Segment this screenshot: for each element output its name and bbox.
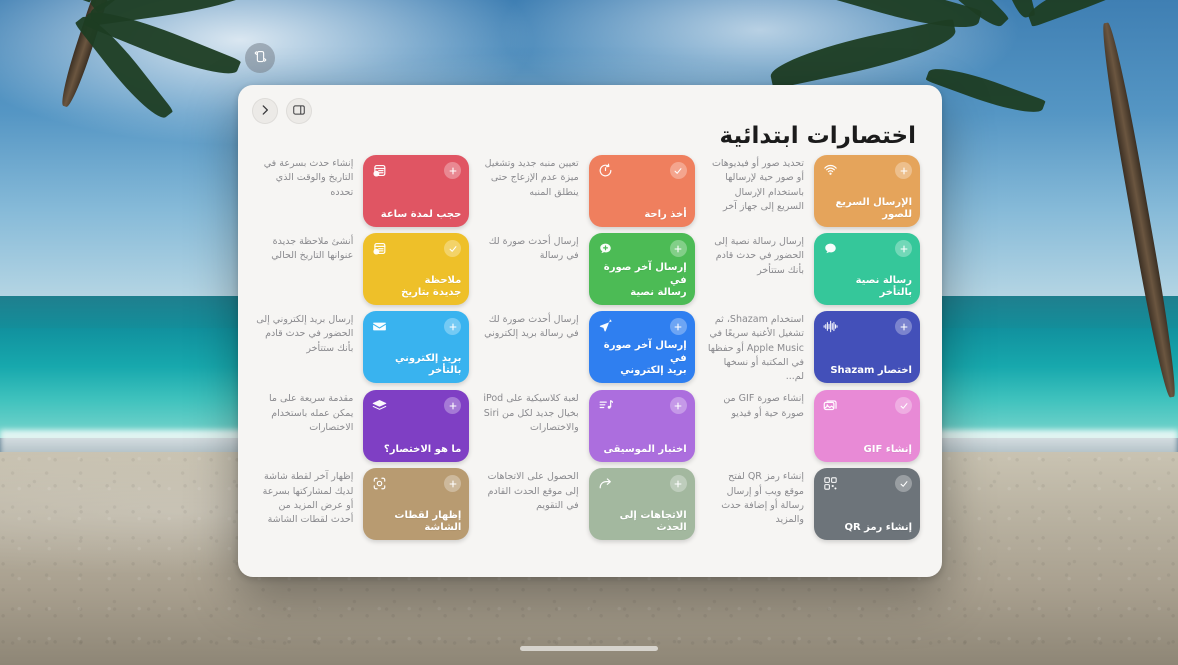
add-shortcut-button[interactable] xyxy=(895,318,912,335)
added-check-icon xyxy=(895,397,912,414)
card-top-row xyxy=(822,397,912,414)
card-top-row xyxy=(822,475,912,492)
shortcut-entry: الإرسال السريع للصورتحديد صور أو فيديوها… xyxy=(707,155,920,227)
airdrop-icon xyxy=(822,162,839,179)
shortcut-card-label: اختبار الموسيقى xyxy=(597,444,687,456)
shortcut-entry: إظهار لقطات الشاشةإظهار آخر لقطة شاشة لد… xyxy=(256,468,469,540)
card-top-row xyxy=(597,397,687,414)
shortcut-entry: إنشاء GIFإنشاء صورة GIF من صورة حية أو ف… xyxy=(707,390,920,462)
shortcut-card[interactable]: إنشاء GIF xyxy=(814,390,920,462)
card-top-row xyxy=(822,318,912,335)
shortcut-entry: إنشاء رمز QRإنشاء رمز QR لفتح موقع ويب أ… xyxy=(707,468,920,540)
shortcut-entry: الاتجاهات إلى الحدثالحصول على الاتجاهات … xyxy=(481,468,694,540)
shortcut-description: إنشاء حدث بسرعة في التاريخ والوقت الذي ت… xyxy=(256,155,353,200)
shortcut-card-label: بريد إلكتروني بالتأخر xyxy=(371,353,461,377)
shortcut-card-label: أخذ راحة xyxy=(597,209,687,221)
waveform-icon xyxy=(822,318,839,335)
add-shortcut-button[interactable] xyxy=(670,397,687,414)
shortcuts-gallery-panel: اختصارات ابتدائية الإرسال السريع للصورتح… xyxy=(238,85,942,577)
shortcut-description: الحصول على الاتجاهات إلى موقع الحدث القا… xyxy=(481,468,578,513)
shortcut-card-label: إنشاء GIF xyxy=(822,444,912,456)
shortcut-entry: رسالة نصية بالتأخرإرسال رسالة نصية إلى ا… xyxy=(707,233,920,305)
message-add-icon xyxy=(597,240,614,257)
shortcut-card-label: الاتجاهات إلى الحدث xyxy=(597,510,687,534)
shortcut-card[interactable]: إرسال آخر صورة في بريد إلكتروني xyxy=(589,311,695,383)
envelope-icon xyxy=(371,318,388,335)
rotate-button[interactable] xyxy=(245,43,275,73)
add-shortcut-button[interactable] xyxy=(670,318,687,335)
shortcut-entry: اختصار Shazamاستخدام Shazam، ثم تشغيل ال… xyxy=(707,311,920,384)
shortcut-entry: ما هو الاختصار؟مقدمة سريعة على ما يمكن ع… xyxy=(256,390,469,462)
chevron-right-icon xyxy=(258,102,272,121)
shortcut-description: إرسال أحدث صورة لك في رسالة بريد إلكترون… xyxy=(481,311,578,342)
rotate-icon xyxy=(253,49,268,68)
shortcut-entry: ملاحظة جديدة بتاريخأنشئ ملاحظة جديدة عنو… xyxy=(256,233,469,305)
shortcut-card-label: اختصار Shazam xyxy=(822,365,912,377)
shortcut-description: إنشاء صورة GIF من صورة حية أو فيديو xyxy=(707,390,804,421)
screenshot-icon xyxy=(371,475,388,492)
add-shortcut-button[interactable] xyxy=(895,162,912,179)
card-top-row xyxy=(597,318,687,335)
calendar-add-icon xyxy=(371,162,388,179)
forward-button[interactable] xyxy=(252,98,278,124)
add-shortcut-button[interactable] xyxy=(444,162,461,179)
shortcut-card[interactable]: أخذ راحة xyxy=(589,155,695,227)
card-top-row xyxy=(822,240,912,257)
add-shortcut-button[interactable] xyxy=(670,475,687,492)
added-check-icon xyxy=(895,475,912,492)
card-top-row xyxy=(597,475,687,492)
add-shortcut-button[interactable] xyxy=(670,240,687,257)
shortcut-card[interactable]: إرسال آخر صورة في رسالة نصية xyxy=(589,233,695,305)
note-add-icon xyxy=(371,240,388,257)
shortcut-card[interactable]: رسالة نصية بالتأخر xyxy=(814,233,920,305)
shortcut-description: تعيين منبه جديد وتشغيل ميزة عدم الإزعاج … xyxy=(481,155,578,200)
shortcut-entry: اختبار الموسيقىلعبة كلاسيكية على iPod بخ… xyxy=(481,390,694,462)
shortcut-description: لعبة كلاسيكية على iPod بخيال جديد لكل من… xyxy=(481,390,578,435)
timer-icon xyxy=(597,162,614,179)
shortcut-card[interactable]: ما هو الاختصار؟ xyxy=(363,390,469,462)
shortcut-card-label: ملاحظة جديدة بتاريخ xyxy=(371,275,461,299)
shortcut-card[interactable]: الإرسال السريع للصور xyxy=(814,155,920,227)
shortcuts-grid: الإرسال السريع للصورتحديد صور أو فيديوها… xyxy=(238,155,942,540)
music-list-icon xyxy=(597,397,614,414)
card-top-row xyxy=(371,475,461,492)
shortcut-entry: إرسال آخر صورة في رسالة نصيةإرسال أحدث ص… xyxy=(481,233,694,305)
shortcut-card[interactable]: حجب لمدة ساعة xyxy=(363,155,469,227)
card-top-row xyxy=(597,240,687,257)
shortcut-card[interactable]: ملاحظة جديدة بتاريخ xyxy=(363,233,469,305)
shortcut-description: تحديد صور أو فيديوهات أو صور حية لإرساله… xyxy=(707,155,804,214)
layers-icon xyxy=(371,397,388,414)
shortcut-description: أنشئ ملاحظة جديدة عنوانها التاريخ الحالي xyxy=(256,233,353,264)
add-shortcut-button[interactable] xyxy=(444,397,461,414)
add-shortcut-button[interactable] xyxy=(895,240,912,257)
card-top-row xyxy=(371,162,461,179)
card-top-row xyxy=(371,397,461,414)
paperplane-icon xyxy=(597,318,614,335)
add-shortcut-button[interactable] xyxy=(444,475,461,492)
shortcut-entry: حجب لمدة ساعةإنشاء حدث بسرعة في التاريخ … xyxy=(256,155,469,227)
navigation-buttons xyxy=(252,98,312,124)
message-icon xyxy=(822,240,839,257)
shortcut-card[interactable]: الاتجاهات إلى الحدث xyxy=(589,468,695,540)
arrow-turn-icon xyxy=(597,475,614,492)
shortcut-card[interactable]: اختصار Shazam xyxy=(814,311,920,383)
qrcode-icon xyxy=(822,475,839,492)
shortcut-description: إرسال أحدث صورة لك في رسالة xyxy=(481,233,578,264)
shortcut-card-label: حجب لمدة ساعة xyxy=(371,209,461,221)
shortcut-card-label: إرسال آخر صورة في رسالة نصية xyxy=(597,262,687,299)
shortcut-card[interactable]: اختبار الموسيقى xyxy=(589,390,695,462)
shortcut-card-label: إنشاء رمز QR xyxy=(822,522,912,534)
shortcut-card-label: إظهار لقطات الشاشة xyxy=(371,510,461,534)
shortcut-description: إظهار آخر لقطة شاشة لديك لمشاركتها بسرعة… xyxy=(256,468,353,527)
photo-stack-icon xyxy=(822,397,839,414)
card-top-row xyxy=(371,240,461,257)
shortcut-description: إرسال رسالة نصية إلى الحضور في حدث قادم … xyxy=(707,233,804,278)
add-shortcut-button[interactable] xyxy=(444,318,461,335)
card-top-row xyxy=(371,318,461,335)
shortcut-card-label: إرسال آخر صورة في بريد إلكتروني xyxy=(597,340,687,377)
card-top-row xyxy=(597,162,687,179)
shortcut-card[interactable]: بريد إلكتروني بالتأخر xyxy=(363,311,469,383)
shortcut-entry: إرسال آخر صورة في بريد إلكترونيإرسال أحد… xyxy=(481,311,694,384)
home-indicator[interactable] xyxy=(520,646,658,651)
shortcut-card[interactable]: إنشاء رمز QR xyxy=(814,468,920,540)
shortcut-description: استخدام Shazam، ثم تشغيل الأغنية سريعًا … xyxy=(707,311,804,384)
sidebar-toggle-button[interactable] xyxy=(286,98,312,124)
shortcut-card-label: الإرسال السريع للصور xyxy=(822,197,912,221)
card-top-row xyxy=(822,162,912,179)
shortcut-card-label: ما هو الاختصار؟ xyxy=(371,444,461,456)
shortcut-card[interactable]: إظهار لقطات الشاشة xyxy=(363,468,469,540)
panel-header: اختصارات ابتدائية xyxy=(238,85,942,155)
shortcut-entry: أخذ راحةتعيين منبه جديد وتشغيل ميزة عدم … xyxy=(481,155,694,227)
shortcut-card-label: رسالة نصية بالتأخر xyxy=(822,275,912,299)
page-title: اختصارات ابتدائية xyxy=(252,97,920,149)
sidebar-icon xyxy=(292,102,306,121)
shortcut-description: إرسال بريد إلكتروني إلى الحضور في حدث قا… xyxy=(256,311,353,356)
shortcut-entry: بريد إلكتروني بالتأخرإرسال بريد إلكتروني… xyxy=(256,311,469,384)
added-check-icon xyxy=(670,162,687,179)
shortcut-description: مقدمة سريعة على ما يمكن عمله باستخدام ال… xyxy=(256,390,353,435)
added-check-icon xyxy=(444,240,461,257)
shortcut-description: إنشاء رمز QR لفتح موقع ويب أو إرسال رسال… xyxy=(707,468,804,527)
